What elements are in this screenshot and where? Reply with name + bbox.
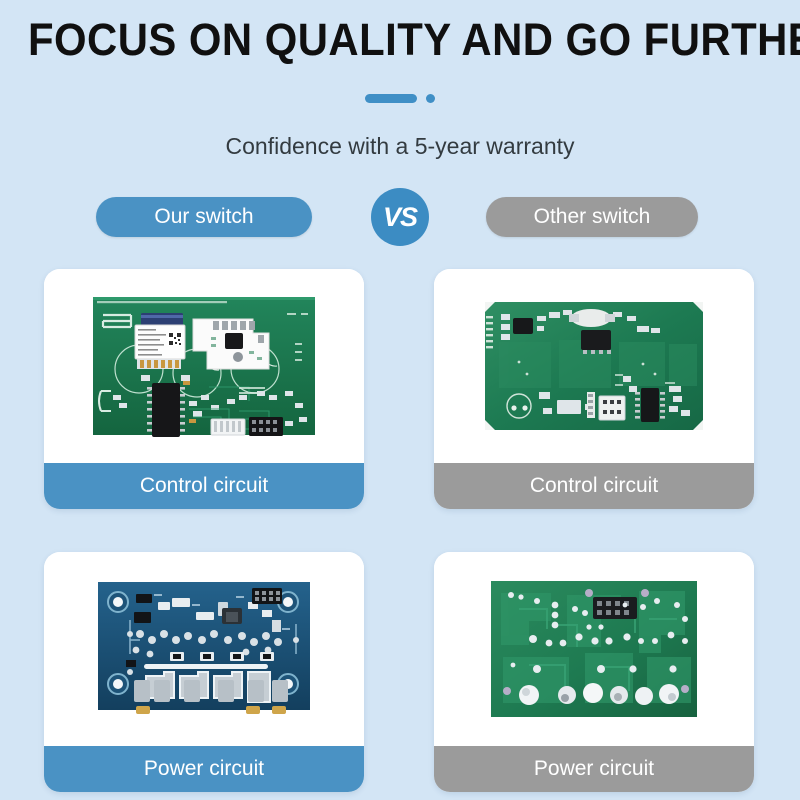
card-other-power[interactable]: Power circuit <box>434 552 754 792</box>
title-divider <box>0 94 800 103</box>
card-caption-ours-power: Power circuit <box>44 746 364 792</box>
our-switch-pill[interactable]: Our switch <box>96 197 312 237</box>
card-other-control[interactable]: Control circuit <box>434 269 754 509</box>
pcb-image-green-power-solder <box>434 552 754 746</box>
card-caption-ours-control: Control circuit <box>44 463 364 509</box>
comparison-header-row: Our switch VS Other switch <box>0 195 800 245</box>
pcb-image-green-control-wifi <box>44 269 364 463</box>
promo-page: FOCUS ON QUALITY AND GO FURTHER Confiden… <box>0 0 800 800</box>
card-caption-other-power: Power circuit <box>434 746 754 792</box>
divider-bar-icon <box>365 94 417 103</box>
page-subtitle: Confidence with a 5-year warranty <box>0 133 800 160</box>
divider-dot-icon <box>426 94 435 103</box>
pcb-illustration <box>483 300 705 432</box>
card-ours-power[interactable]: Power circuit <box>44 552 364 792</box>
other-switch-pill[interactable]: Other switch <box>486 197 698 237</box>
vs-badge-icon: VS <box>371 188 429 246</box>
pcb-image-green-control-plain <box>434 269 754 463</box>
pcb-illustration <box>489 579 699 719</box>
page-title: FOCUS ON QUALITY AND GO FURTHER <box>28 14 772 66</box>
pcb-illustration <box>89 291 319 441</box>
pcb-illustration <box>96 580 312 718</box>
card-caption-other-control: Control circuit <box>434 463 754 509</box>
card-ours-control[interactable]: Control circuit <box>44 269 364 509</box>
pcb-image-blue-power <box>44 552 364 746</box>
